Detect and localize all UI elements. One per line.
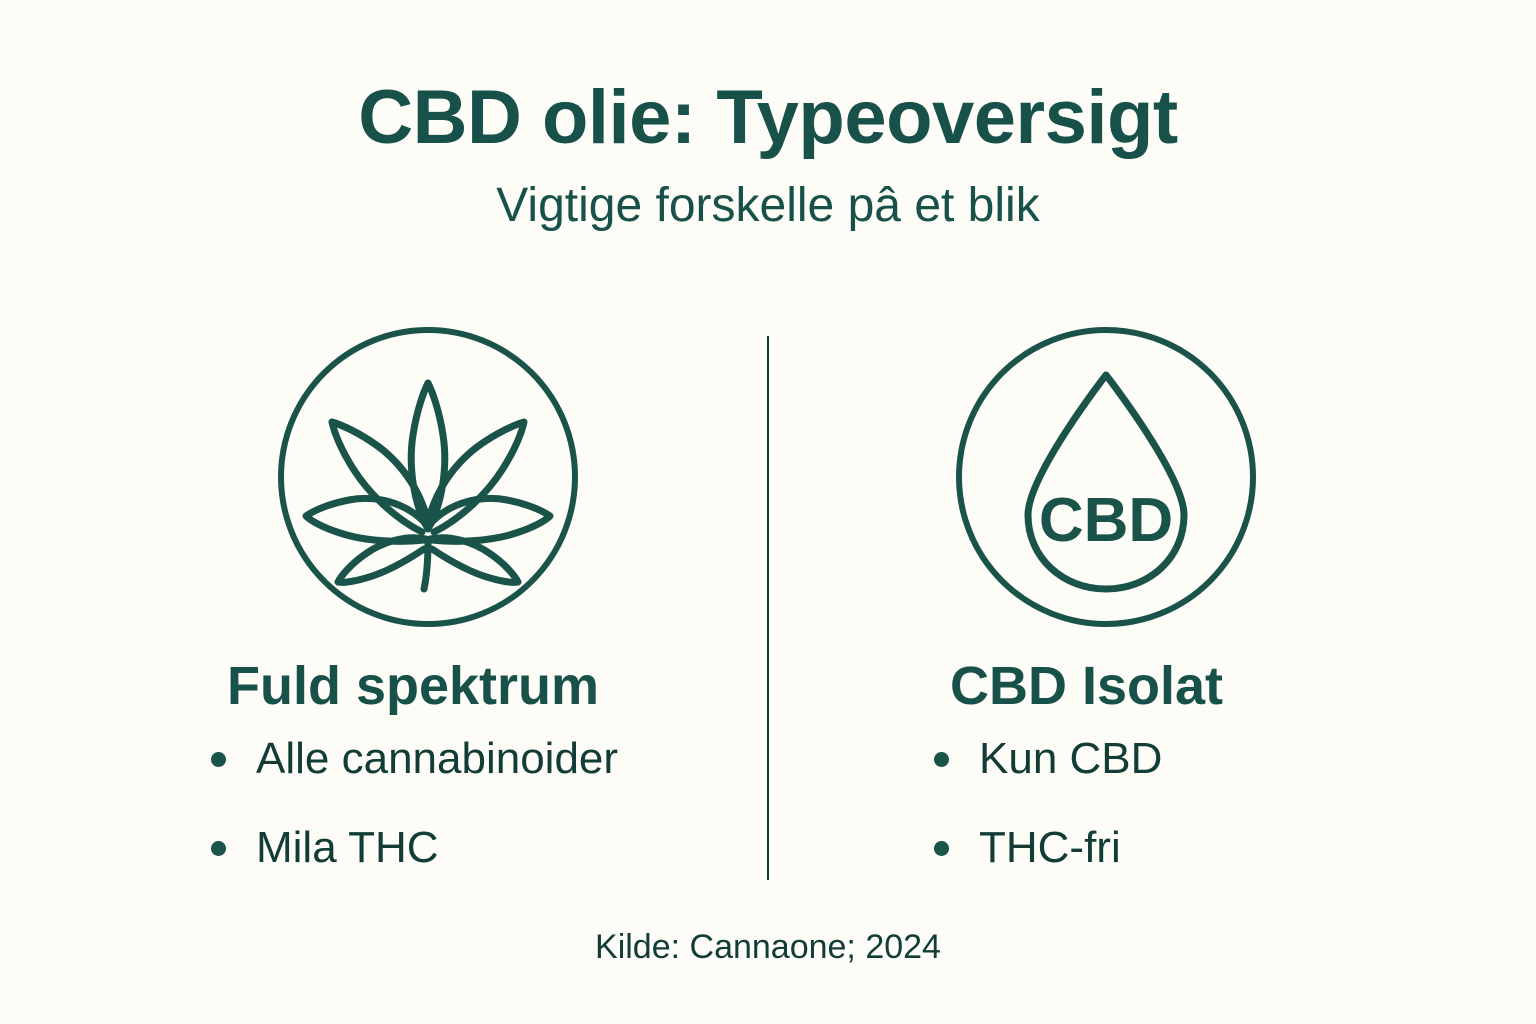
- bullet-text: Kun CBD: [979, 734, 1162, 785]
- list-item: THC-fri: [934, 823, 1456, 874]
- source-attribution: Kilde: Cannaone; 2024: [0, 928, 1536, 967]
- cbd-droplet-icon-wrapper: CBD: [756, 327, 1456, 627]
- bullet-list-cbd-isolate: Kun CBD THC-fri: [934, 734, 1456, 873]
- cannabis-leaf-icon: [278, 327, 578, 627]
- bullet-list-full-spectrum: Alle cannabinoider Mila THC: [211, 734, 778, 873]
- bullet-text: THC-fri: [979, 823, 1121, 874]
- cbd-droplet-icon: CBD: [956, 327, 1256, 627]
- cannabis-leaf-icon-wrapper: [78, 327, 778, 627]
- bullet-text: Mila THC: [256, 823, 439, 874]
- list-item: Kun CBD: [934, 734, 1456, 785]
- list-item: Alle cannabinoider: [211, 734, 778, 785]
- bullet-dot-icon: [934, 752, 949, 767]
- bullet-text: Alle cannabinoider: [256, 734, 618, 785]
- infographic-canvas: CBD olie: Typeoversigt Vigtige forskelle…: [0, 0, 1536, 1024]
- list-item: Mila THC: [211, 823, 778, 874]
- header: CBD olie: Typeoversigt Vigtige forskelle…: [0, 78, 1536, 233]
- column-full-spectrum: Fuld spektrum Alle cannabinoider Mila TH…: [78, 327, 778, 912]
- column-cbd-isolate: CBD CBD Isolat Kun CBD THC-fri: [756, 327, 1456, 912]
- bullet-dot-icon: [211, 841, 226, 856]
- page-subtitle: Vigtige forskelle pâ et blik: [0, 180, 1536, 233]
- droplet-label: CBD: [1039, 486, 1173, 555]
- bullet-dot-icon: [934, 841, 949, 856]
- footer: Kilde: Cannaone; 2024: [0, 928, 1536, 967]
- column-heading-cbd-isolate: CBD Isolat: [950, 657, 1456, 716]
- bullet-dot-icon: [211, 752, 226, 767]
- page-title: CBD olie: Typeoversigt: [0, 78, 1536, 158]
- column-heading-full-spectrum: Fuld spektrum: [227, 657, 778, 716]
